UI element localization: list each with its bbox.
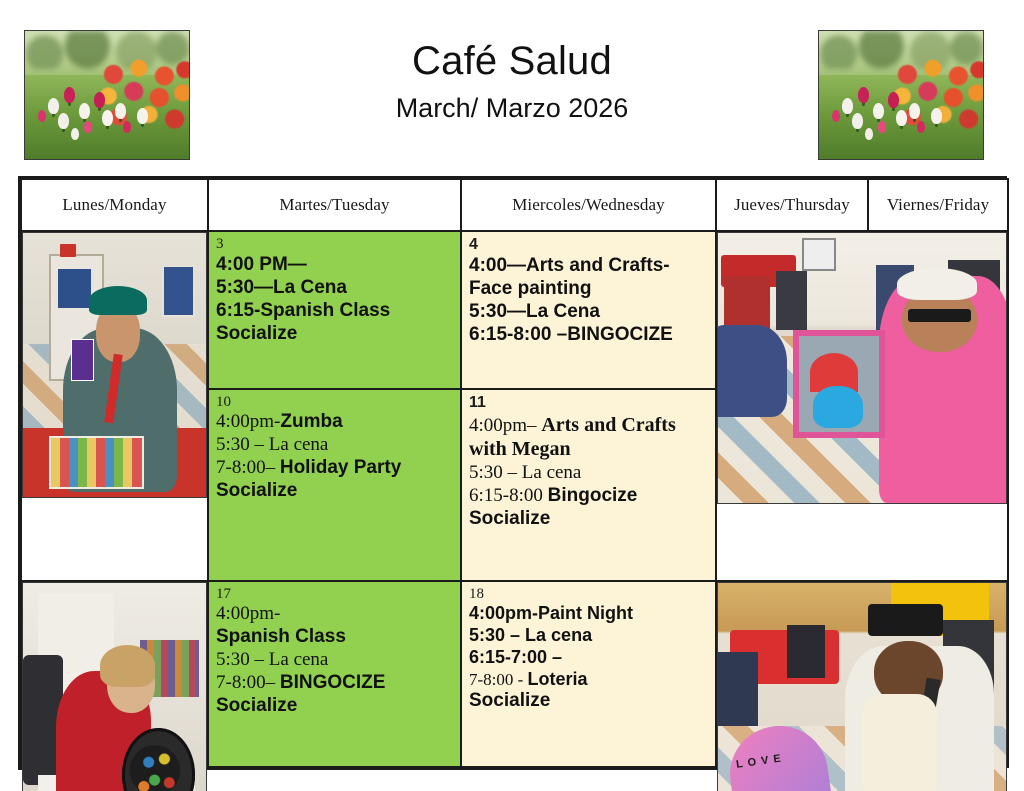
calendar-header-row: Lunes/Monday Martes/Tuesday Miercoles/We…	[21, 179, 1008, 231]
event-line: 4:00pm-	[216, 603, 454, 626]
day-number: 18	[469, 587, 709, 603]
event-line: Face painting	[469, 278, 709, 301]
event-line: Socialize	[216, 480, 454, 503]
woman-in-white-sweater-holding-love-heart-craft-photo: LOVE	[717, 582, 1007, 791]
event-line: 4:00pm-Paint Night	[469, 603, 709, 625]
column-header-friday: Viernes/Friday	[868, 179, 1008, 231]
event-time: 7-8:00–	[216, 457, 280, 478]
calendar-week-row: 17 4:00pm- Spanish Class 5:30 – La cena …	[21, 581, 1008, 767]
event-line: 6:15-8:00 –BINGOCIZE	[469, 324, 709, 347]
title-block: Café Salud March/ Marzo 2026	[212, 38, 812, 126]
event-name: Holiday Party	[280, 457, 401, 478]
right-photo-cell-2: LOVE	[716, 581, 1008, 767]
event-line: 6:15-8:00 Bingocize	[469, 485, 709, 508]
event-line: 4:00pm– Arts and Crafts	[469, 413, 709, 438]
event-line: 7-8:00 - Loteria	[469, 669, 709, 691]
event-line: with Megan	[469, 437, 709, 461]
event-line: Spanish Class	[216, 626, 454, 649]
event-line: 5:30 – La cena	[469, 625, 709, 647]
calendar-week-row: 3 4:00 PM— 5:30—La Cena 6:15-Spanish Cla…	[21, 231, 1008, 389]
calendar-page: Café Salud March/ Marzo 2026	[0, 0, 1024, 791]
right-photo-cell-1	[716, 231, 1008, 581]
woman-in-red-sweatshirt-with-bingo-cage-photo	[22, 582, 207, 791]
day-number: 3	[216, 237, 454, 253]
event-line: 5:30 – La cena	[216, 434, 454, 457]
column-header-tuesday: Martes/Tuesday	[208, 179, 461, 231]
woman-in-pink-holding-love-stitch-painting-photo	[717, 232, 1007, 504]
event-line: 5:30 – La cena	[216, 649, 454, 672]
event-line: 5:30 – La cena	[469, 462, 709, 485]
monday-photo-cell-1	[21, 231, 208, 581]
event-line: Socialize	[216, 695, 454, 718]
event-line: 7-8:00– Holiday Party	[216, 457, 454, 480]
event-line: 4:00 PM—	[216, 254, 454, 277]
event-line: 6:15-7:00 –	[469, 647, 709, 669]
event-time: 7-8:00 -	[469, 670, 528, 689]
event-name: BINGOCIZE	[567, 324, 673, 345]
day-number: 10	[216, 395, 454, 411]
column-header-monday: Lunes/Monday	[21, 179, 208, 231]
event-name: Loteria	[528, 669, 588, 689]
event-name: Arts and Crafts	[541, 414, 675, 436]
event-time: 6:15-8:00 –	[469, 324, 567, 345]
cell-wednesday-18[interactable]: 18 4:00pm-Paint Night 5:30 – La cena 6:1…	[461, 581, 716, 767]
calendar-table-wrapper: Lunes/Monday Martes/Tuesday Miercoles/We…	[18, 176, 1007, 770]
page-subtitle: March/ Marzo 2026	[212, 91, 812, 126]
event-name: BINGOCIZE	[280, 672, 386, 693]
event-name: Bingocize	[548, 485, 638, 506]
event-line: 5:30—La Cena	[469, 301, 709, 324]
page-title: Café Salud	[212, 38, 812, 85]
event-time: 7-8:00–	[216, 672, 280, 693]
event-line: 5:30—La Cena	[216, 277, 454, 300]
cell-tuesday-10[interactable]: 10 4:00pm-Zumba 5:30 – La cena 7-8:00– H…	[208, 389, 461, 581]
event-time: 4:00pm-	[216, 411, 280, 432]
cell-tuesday-17[interactable]: 17 4:00pm- Spanish Class 5:30 – La cena …	[208, 581, 461, 767]
event-line: 4:00pm-Zumba	[216, 411, 454, 434]
event-name: Zumba	[280, 411, 342, 432]
event-time: 4:00pm–	[469, 415, 541, 436]
event-line: 6:15-Spanish Class	[216, 300, 454, 323]
day-number: 17	[216, 587, 454, 603]
man-with-teal-cap-holding-loteria-card-photo	[22, 232, 207, 498]
event-line: 4:00—Arts and Crafts-	[469, 255, 709, 278]
calendar-table: Lunes/Monday Martes/Tuesday Miercoles/We…	[20, 178, 1009, 768]
event-line: Socialize	[469, 690, 709, 713]
monday-photo-cell-2	[21, 581, 208, 767]
cell-wednesday-11[interactable]: 11 4:00pm– Arts and Crafts with Megan 5:…	[461, 389, 716, 581]
day-number: 4	[469, 237, 709, 254]
day-number: 11	[469, 395, 709, 412]
event-line: Socialize	[469, 508, 709, 531]
tulip-field-photo-left	[24, 30, 190, 160]
page-header: Café Salud March/ Marzo 2026	[0, 0, 1024, 170]
event-time: 6:15-8:00	[469, 485, 548, 506]
column-header-thursday: Jueves/Thursday	[716, 179, 868, 231]
cell-wednesday-4[interactable]: 4 4:00—Arts and Crafts- Face painting 5:…	[461, 231, 716, 389]
event-line: Socialize	[216, 323, 454, 346]
column-header-wednesday: Miercoles/Wednesday	[461, 179, 716, 231]
cell-tuesday-3[interactable]: 3 4:00 PM— 5:30—La Cena 6:15-Spanish Cla…	[208, 231, 461, 389]
event-line: 7-8:00– BINGOCIZE	[216, 672, 454, 695]
tulip-field-photo-right	[818, 30, 984, 160]
